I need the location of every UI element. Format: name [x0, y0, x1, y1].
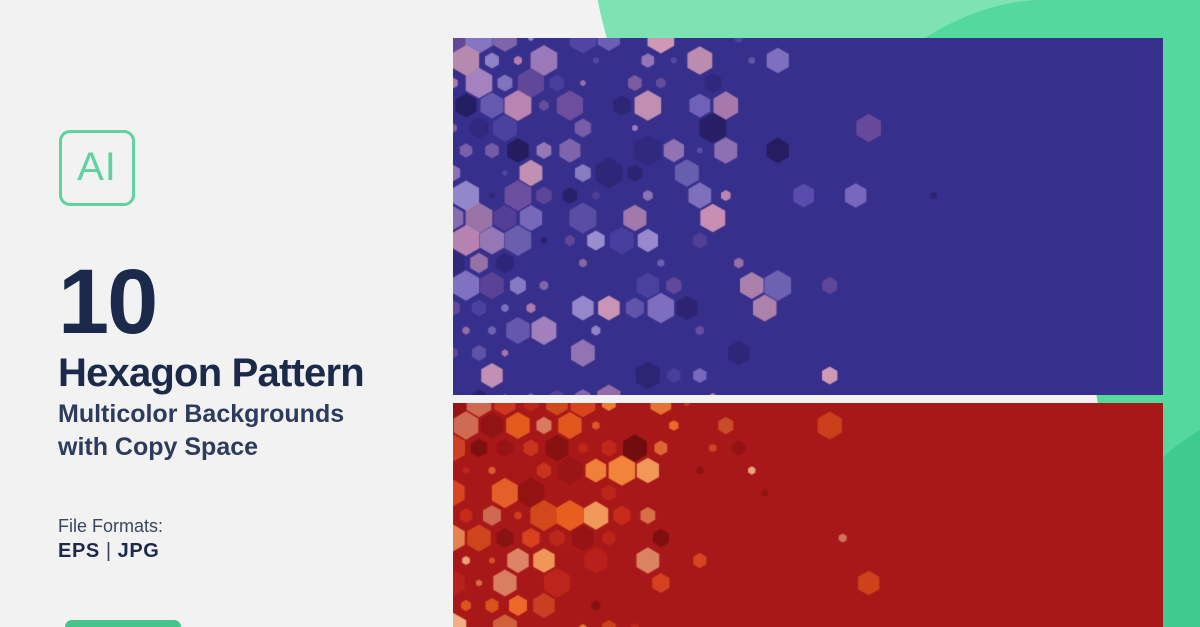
file-formats-value: EPS|JPG [58, 540, 159, 563]
download-button[interactable]: Download [65, 620, 181, 627]
ai-badge-label: AI [77, 147, 117, 187]
item-count: 10 [58, 256, 156, 348]
preview-canvas: AI 10 Hexagon Pattern Multicolor Backgro… [0, 0, 1200, 627]
purple-hexagon-panel[interactable] [453, 38, 1163, 395]
red-pattern-canvas [453, 403, 1163, 627]
file-format-eps: EPS [58, 540, 100, 562]
ai-format-badge: AI [59, 130, 135, 206]
purple-pattern-canvas [453, 38, 1163, 395]
file-format-jpg: JPG [118, 540, 160, 562]
red-hexagon-panel[interactable] [453, 403, 1163, 627]
info-column: AI 10 Hexagon Pattern Multicolor Backgro… [0, 0, 453, 627]
page-subtitle-line-1: Multicolor Backgrounds [58, 398, 344, 431]
page-subtitle-line-2: with Copy Space [58, 431, 344, 464]
page-subtitle: Multicolor Backgrounds with Copy Space [58, 398, 344, 464]
file-format-separator: | [100, 540, 118, 562]
page-title: Hexagon Pattern [58, 352, 364, 394]
file-formats-label: File Formats: [58, 516, 163, 537]
